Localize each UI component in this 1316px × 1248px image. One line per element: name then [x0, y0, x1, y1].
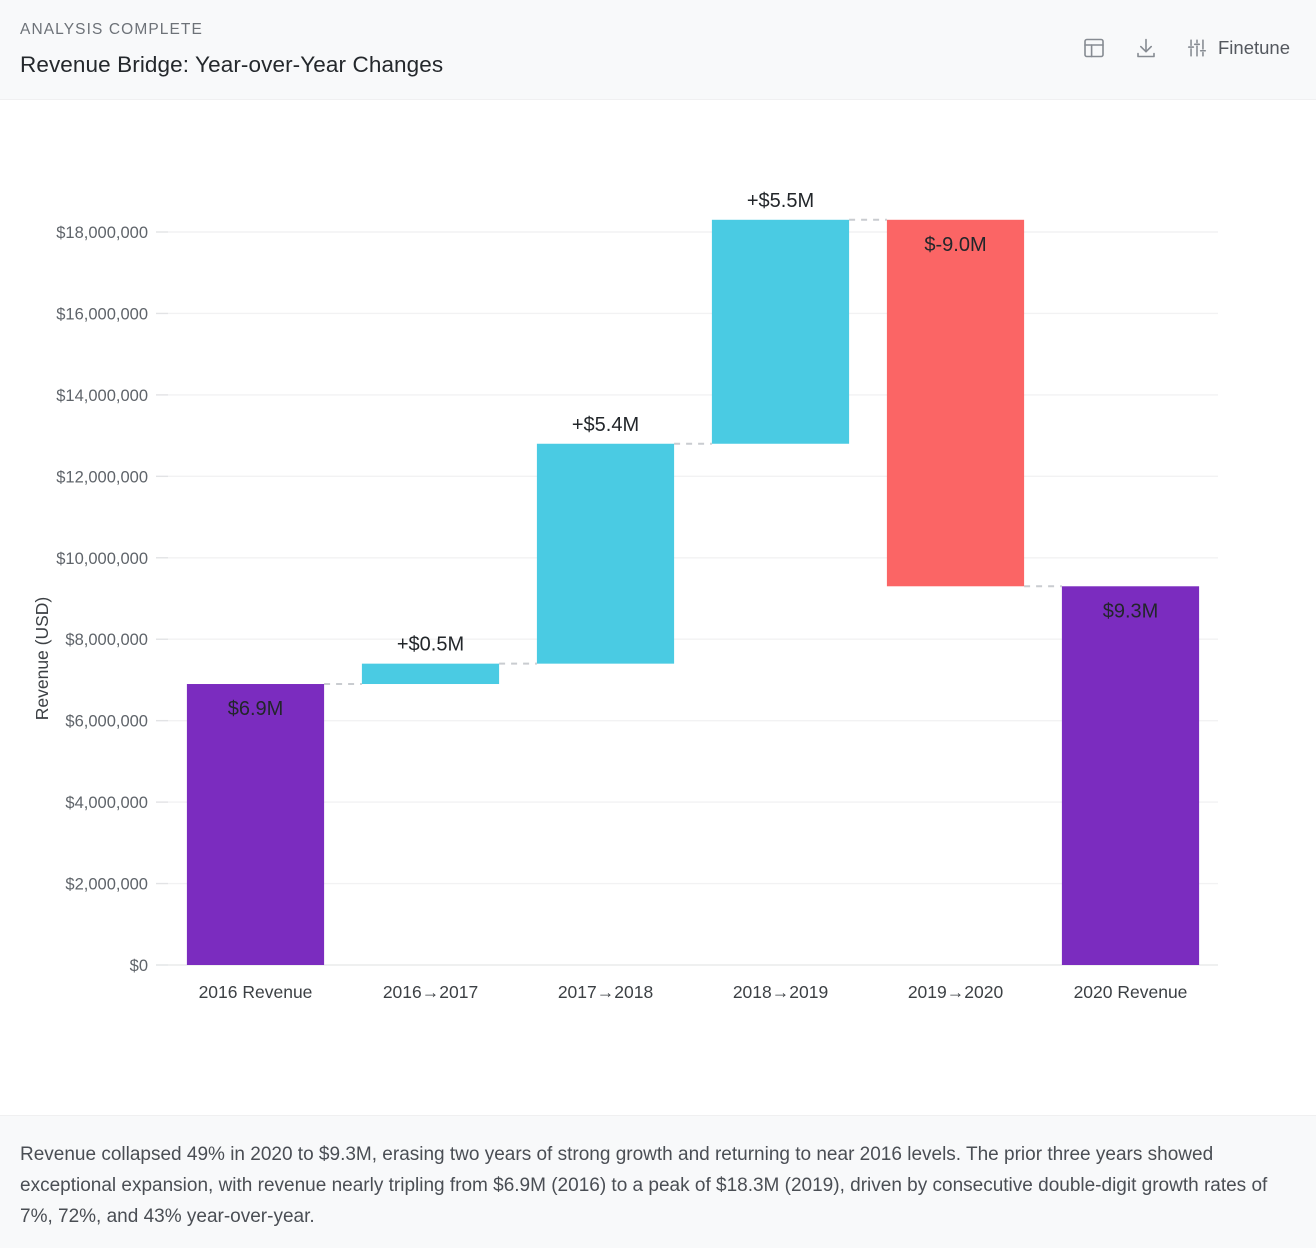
y-axis-tick-label: $16,000,000 [56, 305, 148, 323]
bar-value-label: $9.3M [1103, 600, 1159, 622]
y-axis-tick-label: $4,000,000 [65, 794, 148, 812]
bar-increase[interactable] [537, 444, 674, 664]
x-axis-tick-label: 2019→2020 [908, 982, 1004, 1002]
y-axis-tick-label: $14,000,000 [56, 387, 148, 405]
bar-value-label: +$5.5M [747, 190, 814, 212]
bar-value-label: +$0.5M [397, 634, 464, 656]
status-badge: ANALYSIS COMPLETE [20, 22, 443, 38]
y-axis-tick-label: $12,000,000 [56, 468, 148, 486]
table-icon[interactable] [1082, 36, 1106, 60]
y-axis-tick-label: $10,000,000 [56, 550, 148, 568]
sliders-icon [1186, 37, 1208, 59]
x-axis-tick-labels: 2016 Revenue2016→20172017→20182018→20192… [199, 982, 1188, 1002]
waterfall-chart: $0$2,000,000$4,000,000$6,000,000$8,000,0… [0, 100, 1316, 1115]
summary-text: Revenue collapsed 49% in 2020 to $9.3M, … [20, 1140, 1282, 1233]
page-title: Revenue Bridge: Year-over-Year Changes [20, 52, 443, 78]
chart-page: ANALYSIS COMPLETE Revenue Bridge: Year-o… [0, 0, 1316, 1248]
y-axis-tick-label: $0 [130, 957, 148, 975]
finetune-button[interactable]: Finetune [1186, 37, 1290, 59]
bar-value-label: $6.9M [228, 698, 284, 720]
finetune-label: Finetune [1218, 37, 1290, 59]
chart-header: ANALYSIS COMPLETE Revenue Bridge: Year-o… [0, 0, 1316, 100]
x-axis-tick-label: 2018→2019 [733, 982, 828, 1002]
y-axis-tick-label: $8,000,000 [65, 631, 148, 649]
y-axis-tick-label: $18,000,000 [56, 224, 148, 242]
x-axis-tick-label: 2016→2017 [383, 982, 478, 1002]
bar-decrease[interactable] [887, 220, 1024, 587]
bar-increase[interactable] [712, 220, 849, 444]
chart-area: $0$2,000,000$4,000,000$6,000,000$8,000,0… [0, 100, 1316, 1115]
y-axis-tick-label: $6,000,000 [65, 713, 148, 731]
x-axis-tick-label: 2016 Revenue [199, 982, 313, 1002]
bar-series [187, 220, 1199, 965]
bar-increase[interactable] [362, 664, 499, 684]
bar-total[interactable] [1062, 586, 1199, 965]
x-axis-tick-label: 2017→2018 [558, 982, 653, 1002]
bar-value-label: $-9.0M [924, 234, 986, 256]
bar-value-label: +$5.4M [572, 414, 639, 436]
header-actions: Finetune [1082, 36, 1290, 60]
y-axis-title: Revenue (USD) [32, 597, 52, 721]
header-titles: ANALYSIS COMPLETE Revenue Bridge: Year-o… [20, 22, 443, 77]
y-axis-tick-labels: $0$2,000,000$4,000,000$6,000,000$8,000,0… [56, 224, 148, 975]
x-axis-tick-label: 2020 Revenue [1074, 982, 1188, 1002]
bar-total[interactable] [187, 684, 324, 965]
download-icon[interactable] [1134, 36, 1158, 60]
y-axis-tick-label: $2,000,000 [65, 876, 148, 894]
chart-footer: Revenue collapsed 49% in 2020 to $9.3M, … [0, 1115, 1316, 1248]
